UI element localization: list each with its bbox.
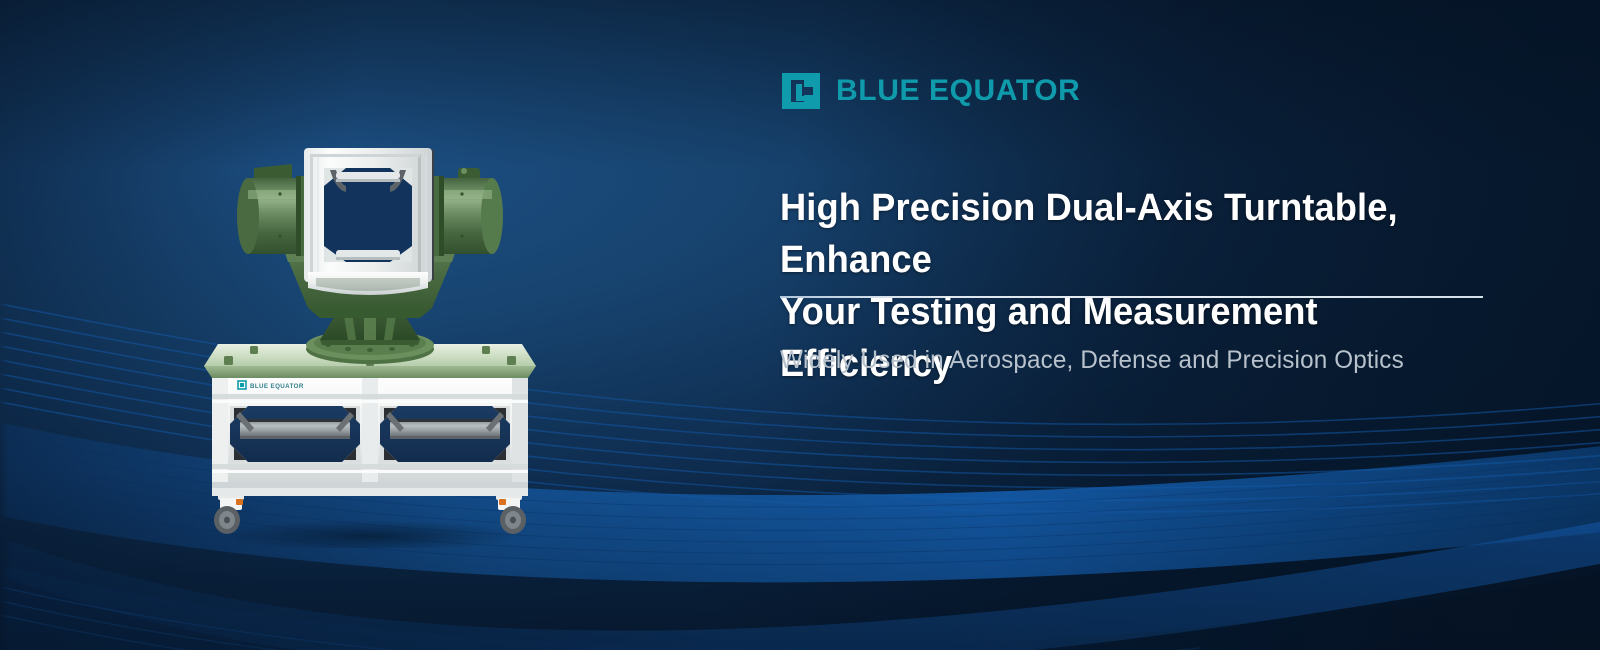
title-divider [780, 296, 1483, 298]
caster-wheel-left [214, 490, 244, 534]
blue-equator-monogram-icon [780, 70, 822, 112]
cabinet-bay-left [230, 406, 360, 462]
page-subtitle: Widely Used in Aerospace, Defense and Pr… [780, 343, 1488, 377]
brand-lockup: BLUE EQUATOR [780, 70, 1080, 112]
hero-banner: BLUE EQUATOR [0, 0, 1600, 650]
brand-name: BLUE EQUATOR [836, 74, 1080, 108]
product-image: BLUE EQUATOR [196, 138, 544, 548]
cabinet-bay-right [380, 406, 510, 462]
svg-text:BLUE EQUATOR: BLUE EQUATOR [250, 383, 304, 390]
caster-wheel-right [496, 490, 526, 534]
hero-content: BLUE EQUATOR High Precision Dual-Axis Tu… [780, 0, 1540, 650]
gimbal-frame [304, 148, 434, 295]
